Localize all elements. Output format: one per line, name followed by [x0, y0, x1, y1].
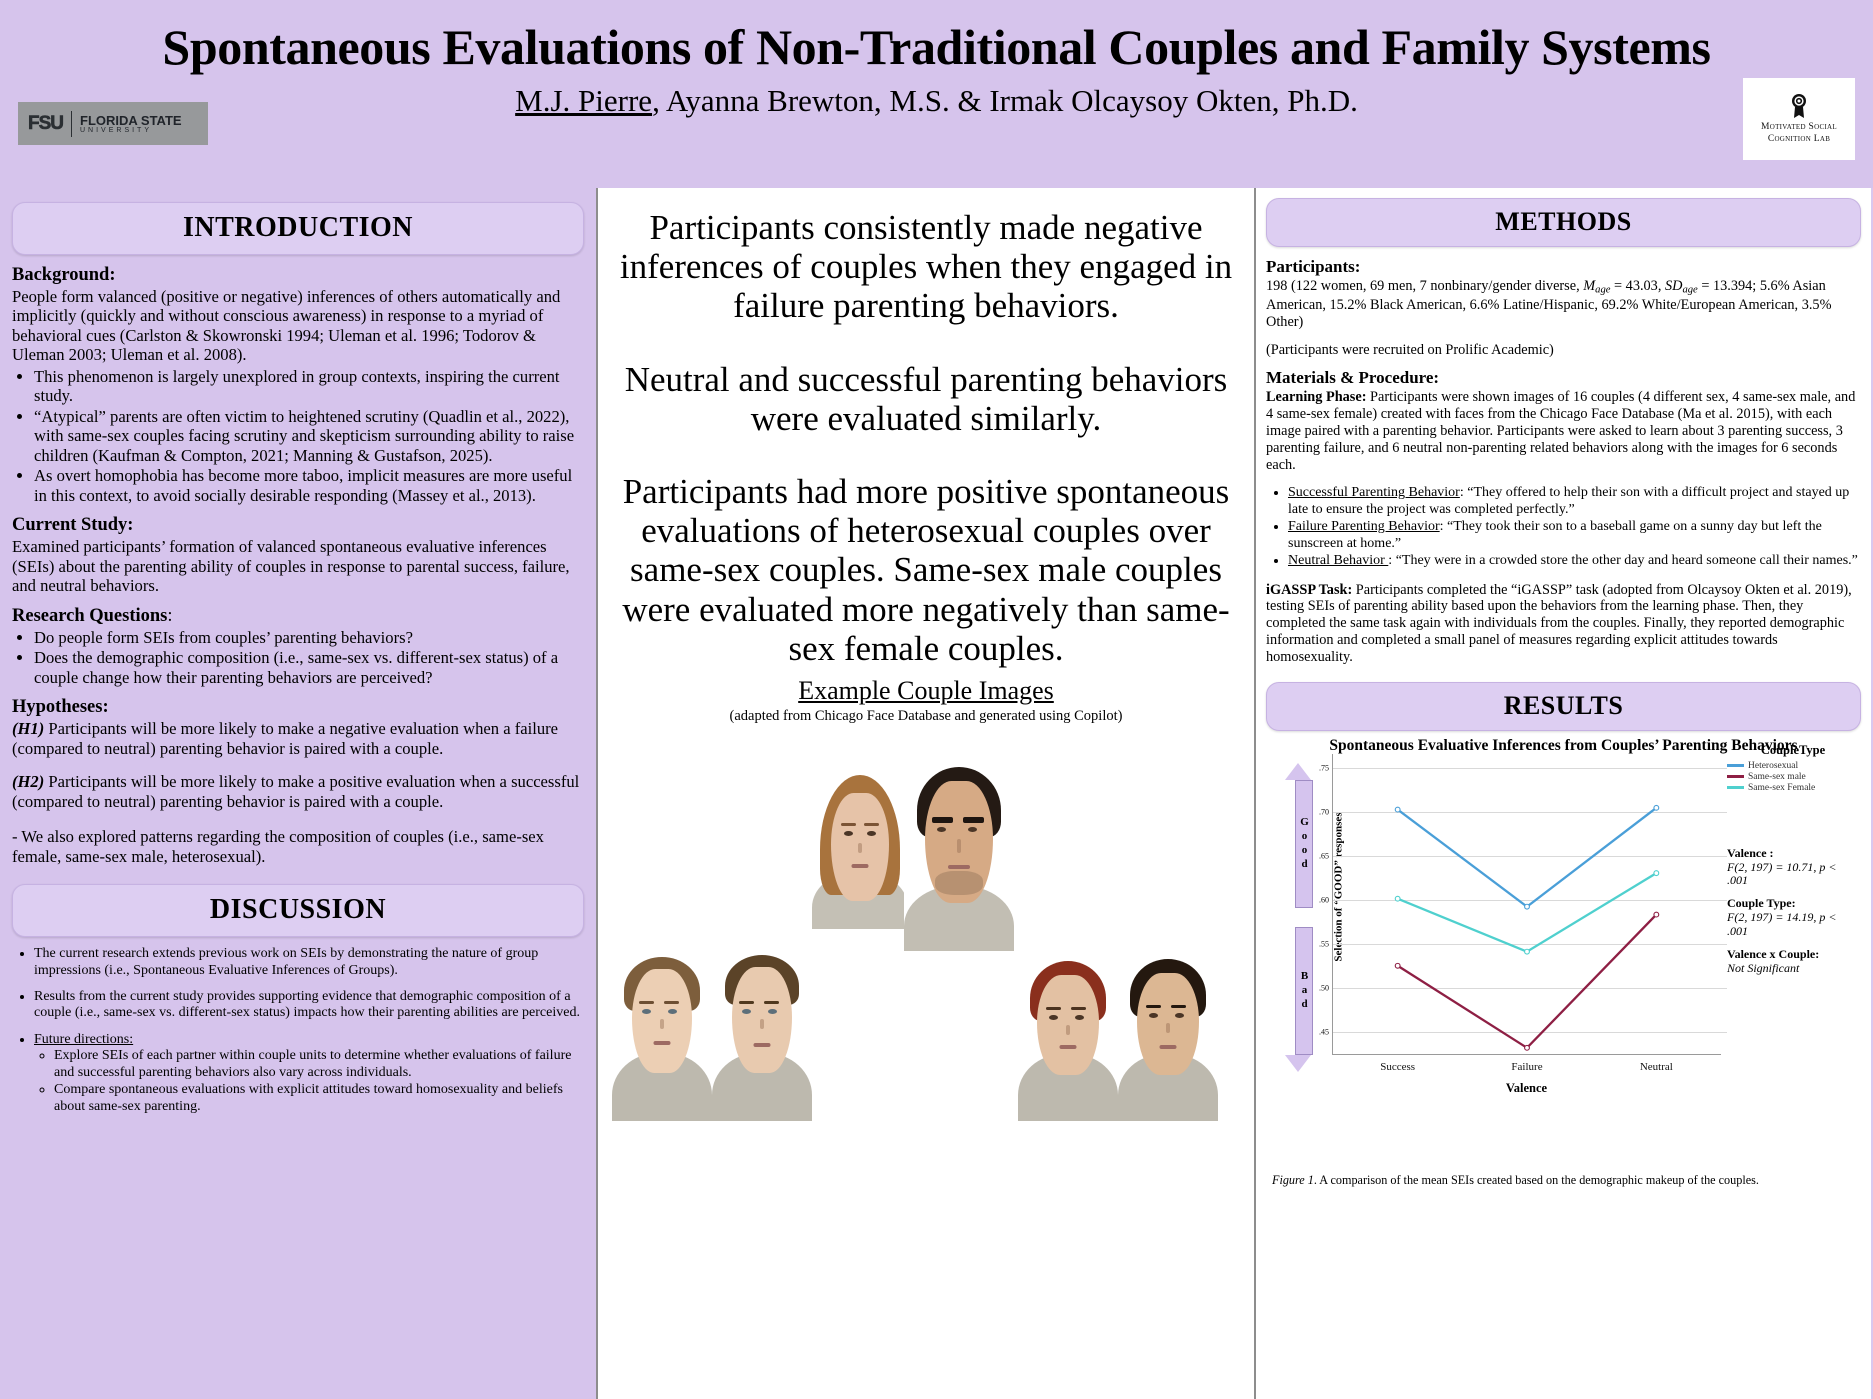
list-item: Failure Parenting Behavior: “They took t…	[1288, 519, 1861, 552]
list-item: Future directions: Explore SEIs of each …	[34, 1032, 584, 1115]
exploratory-note: - We also explored patterns regarding th…	[12, 827, 584, 866]
lab-logo-line2: Cognition Lab	[1768, 134, 1830, 146]
figure-caption-number: Figure 1	[1272, 1173, 1314, 1187]
chart-y-tick: .60	[1319, 896, 1329, 905]
author-others: , Ayanna Brewton, M.S. & Irmak Olcaysoy …	[652, 83, 1358, 118]
h2-tag: (H2)	[12, 772, 44, 791]
example-images-title-text: Example Couple Images	[798, 676, 1054, 705]
chart-legend: CoupleType Heterosexual Same-sex male Sa…	[1727, 743, 1859, 794]
list-item: The current research extends previous wo…	[34, 946, 584, 979]
list-item: Does the demographic composition (i.e., …	[34, 648, 584, 687]
couple-image-heterosexual	[812, 761, 1014, 951]
section-banner-introduction: INTRODUCTION	[12, 202, 584, 255]
sd-age-symbol: SD	[1665, 278, 1682, 294]
couple-image-same-sex-female	[1018, 955, 1218, 1121]
chart-y-tick: .45	[1319, 1028, 1329, 1037]
hypothesis-h1: (H1) Participants will be more likely to…	[12, 719, 584, 758]
face-woman-1	[1018, 955, 1118, 1121]
h1-text: Participants will be more likely to make…	[12, 719, 558, 757]
face-man	[904, 761, 1014, 951]
chart-plot-area: .75.70.65.60.55.50.45SuccessFailureNeutr…	[1332, 754, 1721, 1055]
legend-label: Same-sex Female	[1748, 783, 1815, 793]
example-couple-images	[598, 735, 1254, 1135]
lab-logo-line1: Motivated Social	[1761, 122, 1837, 134]
face-man-1	[612, 951, 712, 1121]
stat-label: Couple Type:	[1727, 897, 1859, 911]
good-arrow-label: Good	[1299, 816, 1310, 872]
m-age-symbol: M	[1583, 278, 1595, 294]
list-item: “Atypical” parents are often victim to h…	[34, 407, 584, 465]
face-woman	[812, 761, 908, 929]
background-label: Background:	[12, 265, 584, 286]
face-woman-2	[1118, 955, 1218, 1121]
discussion-bullet-list: The current research extends previous wo…	[12, 946, 584, 1115]
future-directions-list: Explore SEIs of each partner within coup…	[34, 1048, 584, 1115]
chart-data-point	[1525, 950, 1530, 955]
chart-y-tick: .70	[1319, 807, 1329, 816]
behavior-quote: “They were in a crowded store the other …	[1396, 553, 1858, 568]
chart-y-tick: .75	[1319, 763, 1329, 772]
behavior-term: Successful Parenting Behavior	[1288, 485, 1460, 500]
stat-label: Valence :	[1727, 847, 1859, 861]
legend-label: Same-sex male	[1748, 772, 1806, 782]
background-text: People form valanced (positive or negati…	[12, 287, 584, 365]
participants-pre: 198 (122 women, 69 men, 7 nonbinary/gend…	[1266, 278, 1583, 294]
m-age-value: = 43.03,	[1610, 278, 1665, 294]
list-item: Neutral Behavior : “They were in a crowd…	[1288, 553, 1861, 569]
list-item: Results from the current study provides …	[34, 989, 584, 1022]
poster-header: Spontaneous Evaluations of Non-Tradition…	[0, 0, 1873, 188]
section-banner-discussion: DISCUSSION	[12, 884, 584, 937]
list-item: As overt homophobia has become more tabo…	[34, 466, 584, 505]
poster-body: INTRODUCTION Background: People form val…	[0, 188, 1873, 1399]
good-direction-arrow: Good	[1290, 763, 1316, 907]
key-finding-2: Neutral and successful parenting behavio…	[614, 360, 1238, 438]
learning-phase-label: Learning Phase:	[1266, 389, 1366, 405]
fsu-logo-line1: FLORIDA STATE	[80, 114, 182, 127]
research-questions-colon: :	[167, 606, 172, 626]
stat-label: Valence x Couple:	[1727, 948, 1859, 962]
chart-data-point	[1525, 1046, 1530, 1051]
author-list: M.J. Pierre, Ayanna Brewton, M.S. & Irma…	[0, 83, 1873, 119]
couple-image-same-sex-male	[612, 951, 812, 1121]
legend-item: Same-sex Female	[1727, 783, 1859, 793]
research-questions-label: Research Questions:	[12, 606, 584, 627]
column-introduction: INTRODUCTION Background: People form val…	[0, 188, 596, 1399]
stat-interaction: Valence x Couple: Not Significant	[1727, 948, 1859, 976]
results-figure: Spontaneous Evaluative Inferences from C…	[1266, 737, 1861, 1167]
face-man-2	[712, 951, 812, 1121]
key-finding-3: Participants had more positive spontaneo…	[614, 472, 1238, 668]
current-study-text: Examined participants’ formation of vala…	[12, 537, 584, 595]
chart-data-point	[1654, 913, 1659, 918]
chart-x-tick: Success	[1380, 1061, 1415, 1073]
chart-x-tick: Failure	[1511, 1061, 1542, 1073]
chart-x-axis-label: Valence	[1332, 1081, 1721, 1096]
list-item: Compare spontaneous evaluations with exp…	[54, 1082, 584, 1115]
chart-y-tick: .65	[1319, 851, 1329, 860]
key-finding-1: Participants consistently made negative …	[614, 208, 1238, 326]
column-key-findings: Participants consistently made negative …	[596, 188, 1256, 1399]
chart-line-same-sex-male	[1398, 915, 1657, 1048]
future-directions-label: Future directions:	[34, 1032, 133, 1047]
materials-procedure-label: Materials & Procedure:	[1266, 368, 1861, 388]
column-methods-results: METHODS Participants: 198 (122 women, 69…	[1256, 188, 1871, 1399]
chart-line-heterosexual	[1398, 808, 1657, 907]
author-primary: M.J. Pierre	[515, 83, 652, 118]
hypothesis-h2: (H2) Participants will be more likely to…	[12, 772, 584, 811]
chart-x-tick: Neutral	[1640, 1061, 1673, 1073]
section-banner-methods: METHODS	[1266, 198, 1861, 247]
chart-data-point	[1654, 806, 1659, 811]
stat-couple-type: Couple Type: F(2, 197) = 14.19, p < .001	[1727, 897, 1859, 939]
section-banner-results: RESULTS	[1266, 682, 1861, 731]
poster-root: Spontaneous Evaluations of Non-Tradition…	[0, 0, 1873, 1399]
list-item: Explore SEIs of each partner within coup…	[54, 1048, 584, 1081]
behavior-term: Neutral Behavior	[1288, 553, 1388, 568]
chart-data-point	[1654, 871, 1659, 876]
legend-swatch-same-sex-female	[1727, 786, 1744, 789]
stat-valence: Valence : F(2, 197) = 10.71, p < .001	[1727, 847, 1859, 889]
hypotheses-label: Hypotheses:	[12, 697, 584, 718]
behavior-term: Failure Parenting Behavior	[1288, 519, 1440, 534]
results-statistics: Valence : F(2, 197) = 10.71, p < .001 Co…	[1727, 847, 1859, 985]
current-study-label: Current Study:	[12, 515, 584, 536]
list-item: Successful Parenting Behavior: “They off…	[1288, 485, 1861, 518]
figure-caption-text: . A comparison of the mean SEIs created …	[1314, 1173, 1759, 1187]
fsu-logo: FSU FLORIDA STATE UNIVERSITY	[18, 102, 208, 145]
list-item: Do people form SEIs from couples’ parent…	[34, 628, 584, 647]
legend-item: Heterosexual	[1727, 761, 1859, 771]
page-title: Spontaneous Evaluations of Non-Tradition…	[0, 0, 1873, 73]
chart-y-tick: .50	[1319, 984, 1329, 993]
example-images-subtitle: (adapted from Chicago Face Database and …	[598, 708, 1254, 725]
m-age-subscript: age	[1595, 285, 1610, 296]
legend-title: CoupleType	[1727, 743, 1859, 758]
igassp-label: iGASSP Task:	[1266, 582, 1352, 598]
chart-data-point	[1395, 964, 1400, 969]
example-images-title: Example Couple Images	[598, 676, 1254, 706]
chart-y-tick: .55	[1319, 940, 1329, 949]
chart-series-layer	[1333, 754, 1721, 1054]
background-bullet-list: This phenomenon is largely unexplored in…	[12, 367, 584, 505]
bad-arrow-label: Bad	[1299, 970, 1310, 1012]
legend-item: Same-sex male	[1727, 772, 1859, 782]
behavior-example-list: Successful Parenting Behavior: “They off…	[1266, 485, 1861, 569]
legend-swatch-heterosexual	[1727, 764, 1744, 767]
learning-phase-text: Learning Phase: Participants were shown …	[1266, 389, 1861, 473]
igassp-text: iGASSP Task: Participants completed the …	[1266, 582, 1861, 666]
research-questions-list: Do people form SEIs from couples’ parent…	[12, 628, 584, 687]
recruitment-note: (Participants were recruited on Prolific…	[1266, 342, 1861, 359]
behavior-separator: :	[1388, 553, 1395, 568]
research-questions-label-text: Research Questions	[12, 606, 167, 626]
behavior-separator: :	[1440, 519, 1447, 534]
sd-age-subscript: age	[1682, 285, 1697, 296]
fsu-logo-divider	[71, 111, 72, 137]
legend-label: Heterosexual	[1748, 761, 1798, 771]
figure-caption: Figure 1. A comparison of the mean SEIs …	[1266, 1173, 1861, 1188]
igassp-body: Participants completed the “iGASSP” task…	[1266, 582, 1852, 665]
chart-data-point	[1395, 808, 1400, 813]
stat-value: F(2, 197) = 10.71, p < .001	[1727, 861, 1859, 889]
stat-value: F(2, 197) = 14.19, p < .001	[1727, 911, 1859, 939]
h1-tag: (H1)	[12, 719, 44, 738]
fsu-logo-mark: FSU	[18, 113, 63, 135]
chart-line-same-sex-female	[1398, 874, 1657, 953]
fsu-logo-wordmark: FLORIDA STATE UNIVERSITY	[80, 114, 182, 134]
stat-value: Not Significant	[1727, 962, 1859, 976]
list-item: This phenomenon is largely unexplored in…	[34, 367, 584, 406]
bad-direction-arrow: Bad	[1290, 927, 1316, 1071]
participants-text: 198 (122 women, 69 men, 7 nonbinary/gend…	[1266, 278, 1861, 331]
h2-text: Participants will be more likely to make…	[12, 772, 579, 810]
legend-swatch-same-sex-male	[1727, 775, 1744, 778]
brain-seal-icon	[1788, 93, 1810, 119]
chart-data-point	[1525, 905, 1530, 910]
chart-data-point	[1395, 897, 1400, 902]
participants-label: Participants:	[1266, 257, 1861, 277]
motivated-social-cognition-lab-logo: Motivated Social Cognition Lab	[1743, 78, 1855, 160]
fsu-logo-line2: UNIVERSITY	[80, 127, 182, 134]
